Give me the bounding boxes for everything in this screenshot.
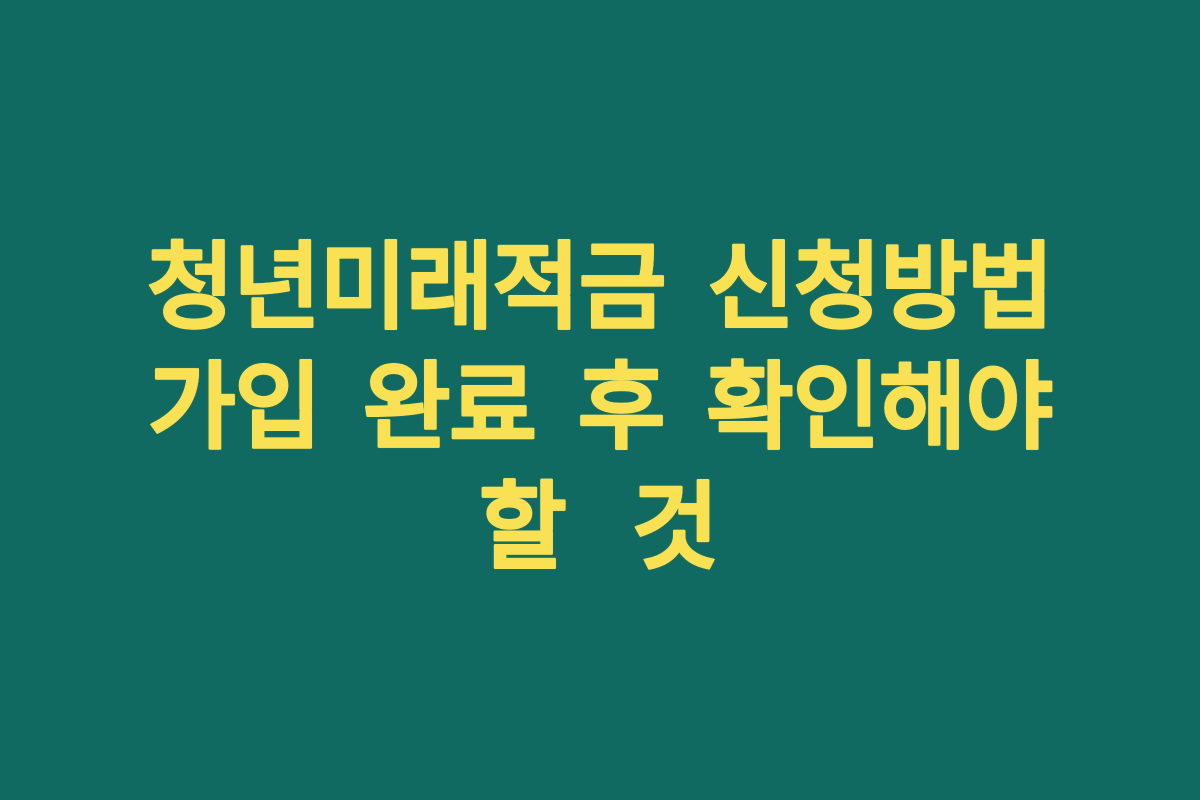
headline-line-3: 할 것 [80,469,1120,589]
headline-text-block: 청년미래적금 신청방법 가입 완료 후 확인해야 할 것 [80,229,1120,588]
headline-line-1: 청년미래적금 신청방법 [80,229,1120,349]
headline-line-2: 가입 완료 후 확인해야 [80,349,1120,469]
thumbnail-banner: 청년미래적금 신청방법 가입 완료 후 확인해야 할 것 [0,0,1200,800]
